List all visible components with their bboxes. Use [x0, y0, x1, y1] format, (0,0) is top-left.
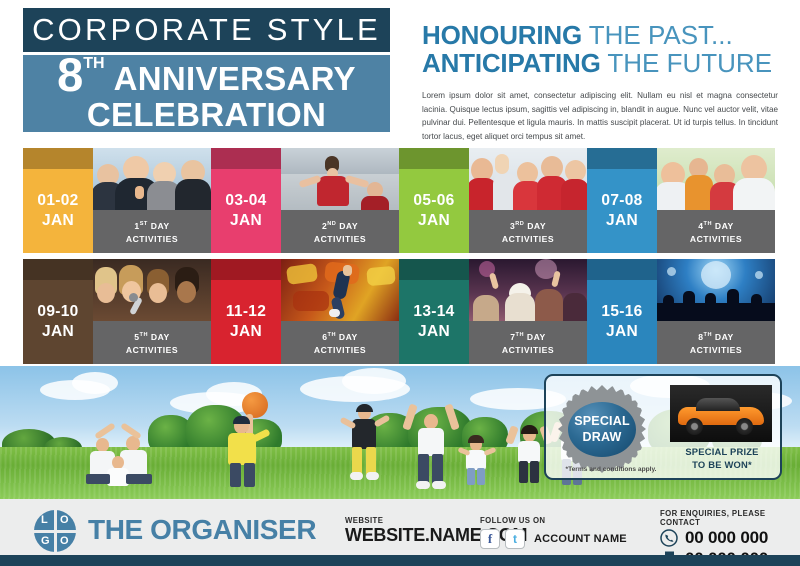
account-name: ACCOUNT NAME	[534, 533, 627, 545]
date-range-3: 05-06	[413, 191, 454, 211]
schedule-row-1: 01-02 JAN	[23, 148, 775, 253]
schedule-cell-1[interactable]: 01-02 JAN	[23, 148, 211, 253]
orange-sports-car-photo	[670, 385, 772, 442]
date-box-top-strip	[23, 148, 93, 169]
caption-line-2-day-6: ACTIVITIES	[314, 344, 366, 356]
schedule-row-2: 09-10 JAN	[23, 259, 775, 364]
date-text-7: 13-14 JAN	[399, 280, 469, 364]
date-range-4: 07-08	[601, 191, 642, 211]
headline-2-light: THE FUTURE	[601, 48, 772, 78]
headline-1-bold: HONOURING	[422, 20, 582, 50]
date-box-top-strip	[399, 259, 469, 280]
schedule-cell-2[interactable]: 03-04 JAN	[211, 148, 399, 253]
anniversary-number: 8	[57, 54, 82, 95]
date-month-3: JAN	[418, 211, 450, 231]
photo-box-3: 3RD DAY ACTIVITIES	[469, 148, 587, 253]
photo-box-1: 1ST DAY ACTIVITIES	[93, 148, 211, 253]
caption-line-2-day-5: ACTIVITIES	[126, 344, 178, 356]
flyer-page: CORPORATE STYLE 8 TH ANNIVERSARY CELEBRA…	[0, 0, 800, 566]
date-box-4: 07-08 JAN	[587, 148, 657, 253]
date-text-5: 09-10 JAN	[23, 280, 93, 364]
corporate-title-bar: CORPORATE STYLE	[23, 8, 390, 52]
date-box-top-strip	[211, 148, 281, 169]
caption-bar-1: 1ST DAY ACTIVITIES	[93, 210, 211, 253]
organiser-logo-icon: L O G O	[34, 510, 76, 552]
caption-line-1-day-1: 1ST DAY	[134, 220, 169, 232]
date-month-5: JAN	[42, 322, 74, 342]
phone-line: 00 000 000	[660, 528, 800, 548]
car-wheel-shape	[686, 418, 703, 435]
phone-number: 00 000 000	[685, 528, 768, 548]
twitter-glyph: t	[513, 532, 517, 546]
anniversary-ordinal: TH	[83, 56, 104, 72]
corporate-title: CORPORATE STYLE	[32, 12, 381, 48]
boy-with-basketball	[222, 392, 274, 488]
caption-line-1-day-7: 7TH DAY	[510, 331, 546, 343]
date-box-1: 01-02 JAN	[23, 148, 93, 253]
anniversary-word: ANNIVERSARY	[114, 62, 356, 95]
date-text-1: 01-02 JAN	[23, 169, 93, 253]
anniversary-line-1: 8 TH ANNIVERSARY	[57, 54, 356, 95]
phone-icon	[660, 529, 680, 547]
special-draw-panel[interactable]: SPECIAL DRAW SPECIAL PRIZE TO BE WON* *T…	[544, 374, 782, 480]
photo-box-8: 8TH DAY ACTIVITIES	[657, 259, 775, 364]
car-cabin-shape	[696, 398, 740, 411]
footer-section: L O G O THE ORGANISER WEBSITE WEBSITE.NA…	[0, 499, 800, 566]
date-box-7: 13-14 JAN	[399, 259, 469, 364]
date-box-6: 11-12 JAN	[211, 259, 281, 364]
caption-bar-6: 6TH DAY ACTIVITIES	[281, 321, 399, 364]
date-range-5: 09-10	[37, 302, 78, 322]
caption-line-2-day-3: ACTIVITIES	[502, 233, 554, 245]
date-month-4: JAN	[606, 211, 638, 231]
woman-dancing-photo	[281, 148, 399, 210]
date-box-top-strip	[399, 148, 469, 169]
prize-text: SPECIAL PRIZE TO BE WON*	[670, 446, 774, 471]
caption-bar-2: 2ND DAY ACTIVITIES	[281, 210, 399, 253]
logo-divider-horizontal	[34, 530, 76, 533]
seated-family-group	[86, 424, 152, 488]
date-box-8: 15-16 JAN	[587, 259, 657, 364]
schedule-cell-3[interactable]: 05-06 JAN	[399, 148, 587, 253]
date-month-2: JAN	[230, 211, 262, 231]
caption-line-1-day-4: 4TH DAY	[698, 220, 734, 232]
photo-box-6: 6TH DAY ACTIVITIES	[281, 259, 399, 364]
date-month-7: JAN	[418, 322, 450, 342]
logo-letter-4: O	[60, 535, 69, 547]
prize-line-2: TO BE WON*	[670, 459, 774, 472]
breakdancer-graffiti-photo	[281, 259, 399, 321]
title-block: CORPORATE STYLE 8 TH ANNIVERSARY CELEBRA…	[23, 8, 390, 132]
facebook-icon[interactable]: f	[480, 529, 500, 549]
caption-line-2-day-1: ACTIVITIES	[126, 233, 178, 245]
jumping-child	[460, 432, 494, 488]
follow-block: FOLLOW US ON f t ACCOUNT NAME	[480, 516, 627, 549]
date-box-2: 03-04 JAN	[211, 148, 281, 253]
logo-letter-3: G	[41, 535, 50, 547]
date-box-top-strip	[587, 148, 657, 169]
intro-body-text: Lorem ipsum dolor sit amet, consectetur …	[422, 89, 778, 145]
social-row: f t ACCOUNT NAME	[480, 529, 627, 549]
schedule-grid: 01-02 JAN	[23, 148, 775, 364]
brand-name: THE ORGANISER	[88, 514, 316, 546]
date-month-6: JAN	[230, 322, 262, 342]
children-cheering-photo	[469, 148, 587, 210]
schedule-cell-8[interactable]: 15-16 JAN	[587, 259, 775, 364]
caption-bar-3: 3RD DAY ACTIVITIES	[469, 210, 587, 253]
badge-oval: SPECIAL DRAW	[568, 402, 636, 457]
caption-line-2-day-8: ACTIVITIES	[690, 344, 742, 356]
caption-line-2-day-4: ACTIVITIES	[690, 233, 742, 245]
headline-1-light: THE PAST...	[582, 20, 733, 50]
caption-line-1-day-6: 6TH DAY	[322, 331, 358, 343]
date-range-1: 01-02	[37, 191, 78, 211]
car-wheel-shape	[736, 418, 753, 435]
caption-bar-8: 8TH DAY ACTIVITIES	[657, 321, 775, 364]
schedule-cell-6[interactable]: 11-12 JAN	[211, 259, 399, 364]
anniversary-bar: 8 TH ANNIVERSARY CELEBRATION	[23, 55, 390, 132]
business-team-photo	[93, 148, 211, 210]
logo-letter-2: O	[60, 514, 69, 526]
caption-line-1-day-5: 5TH DAY	[134, 331, 170, 343]
photo-box-2: 2ND DAY ACTIVITIES	[281, 148, 399, 253]
date-box-3: 05-06 JAN	[399, 148, 469, 253]
schedule-cell-4[interactable]: 07-08 JAN	[587, 148, 775, 253]
date-range-2: 03-04	[225, 191, 266, 211]
friends-karaoke-photo	[93, 259, 211, 321]
logo-letter-1: L	[41, 514, 48, 526]
schedule-cell-7[interactable]: 13-14 JAN	[399, 259, 587, 364]
date-box-top-strip	[211, 259, 281, 280]
concert-crowd-photo	[469, 259, 587, 321]
date-range-8: 15-16	[601, 302, 642, 322]
caption-line-2-day-2: ACTIVITIES	[314, 233, 366, 245]
headline-line-2: ANTICIPATING THE FUTURE	[422, 50, 780, 78]
terms-text: *Terms and conditions apply.	[556, 466, 666, 473]
caption-line-2-day-7: ACTIVITIES	[502, 344, 554, 356]
cloud-shape	[342, 368, 406, 394]
photo-box-4: 4TH DAY ACTIVITIES	[657, 148, 775, 253]
schedule-cell-5[interactable]: 09-10 JAN	[23, 259, 211, 364]
special-draw-badge: SPECIAL DRAW	[558, 385, 646, 473]
headline-line-1: HONOURING THE PAST...	[422, 22, 780, 50]
special-draw-line-1: SPECIAL	[574, 414, 630, 430]
date-month-8: JAN	[606, 322, 638, 342]
headline-2-bold: ANTICIPATING	[422, 48, 601, 78]
date-text-4: 07-08 JAN	[587, 169, 657, 253]
photo-box-7: 7TH DAY ACTIVITIES	[469, 259, 587, 364]
jumping-dancer	[344, 404, 386, 488]
facebook-glyph: f	[488, 531, 492, 547]
date-range-7: 13-14	[413, 302, 454, 322]
contact-label: FOR ENQUIRIES, PLEASE CONTACT	[660, 509, 800, 527]
caption-line-1-day-2: 2ND DAY	[322, 220, 358, 232]
date-box-5: 09-10 JAN	[23, 259, 93, 364]
date-month-1: JAN	[42, 211, 74, 231]
date-box-top-strip	[587, 259, 657, 280]
caption-line-1-day-8: 8TH DAY	[698, 331, 734, 343]
cloud-shape	[72, 372, 118, 394]
caption-bar-4: 4TH DAY ACTIVITIES	[657, 210, 775, 253]
twitter-icon[interactable]: t	[505, 529, 525, 549]
caption-bar-5: 5TH DAY ACTIVITIES	[93, 321, 211, 364]
date-box-top-strip	[23, 259, 93, 280]
follow-label: FOLLOW US ON	[480, 516, 627, 525]
date-text-3: 05-06 JAN	[399, 169, 469, 253]
date-range-6: 11-12	[226, 302, 266, 322]
family-portrait-photo	[657, 148, 775, 210]
prize-line-1: SPECIAL PRIZE	[670, 446, 774, 459]
date-text-2: 03-04 JAN	[211, 169, 281, 253]
date-text-8: 15-16 JAN	[587, 280, 657, 364]
jumping-man	[404, 398, 458, 490]
nightclub-crowd-photo	[657, 259, 775, 321]
photo-box-5: 5TH DAY ACTIVITIES	[93, 259, 211, 364]
date-text-6: 11-12 JAN	[211, 280, 281, 364]
caption-line-1-day-3: 3RD DAY	[510, 220, 546, 232]
intro-block: HONOURING THE PAST... ANTICIPATING THE F…	[422, 22, 780, 144]
header-section: CORPORATE STYLE 8 TH ANNIVERSARY CELEBRA…	[0, 0, 800, 148]
special-draw-line-2: DRAW	[583, 430, 622, 446]
caption-bar-7: 7TH DAY ACTIVITIES	[469, 321, 587, 364]
celebration-word: CELEBRATION	[87, 98, 326, 131]
footer-bottom-bar	[0, 555, 800, 566]
